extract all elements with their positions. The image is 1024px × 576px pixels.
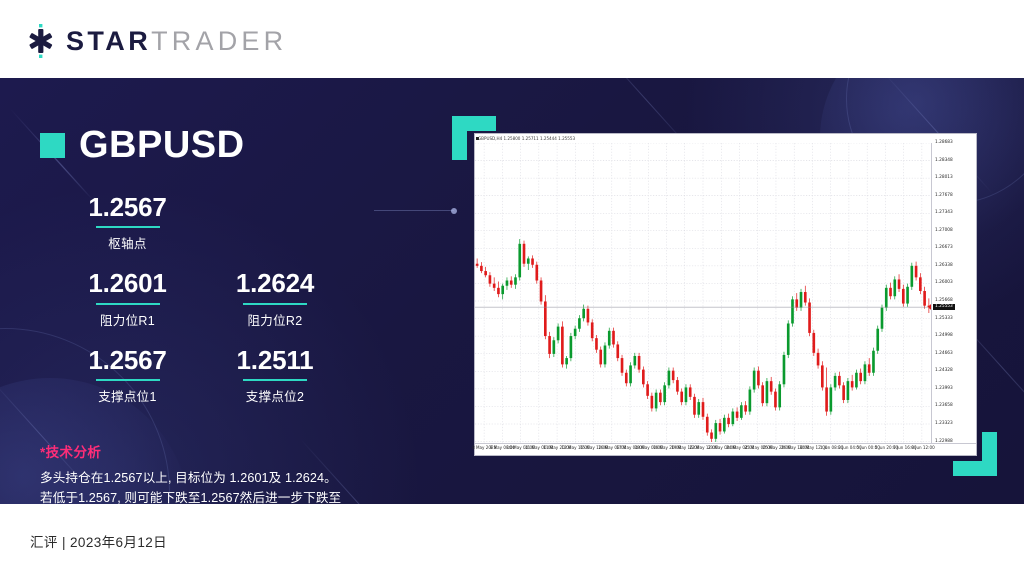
price-tick: 1.28348 <box>935 159 953 163</box>
level-s2-value: 1.2511 <box>215 347 335 374</box>
instrument-name: GBPUSD <box>79 126 245 164</box>
price-tick: 1.27678 <box>935 194 953 198</box>
level-s2: 1.2511 支撑点位2 <box>215 347 335 405</box>
level-r2-label: 阻力位R2 <box>215 310 335 329</box>
candlestick-plot[interactable] <box>475 143 932 443</box>
footer-bar: 汇评 | 2023年6月12日 <box>0 504 1024 576</box>
level-s1-underline <box>96 379 160 381</box>
hero-panel: GBPUSD 1.2567 枢轴点 1.2601 阻力位R1 1.2624 阻力… <box>0 78 1024 504</box>
price-tick: 1.25333 <box>935 317 953 321</box>
brand-name-bold: STAR <box>66 26 151 57</box>
price-tick: 1.24328 <box>935 369 953 373</box>
footer-caption: 汇评 | 2023年6月12日 <box>30 531 167 551</box>
price-chart[interactable]: GBPUSD,H4 1.25800 1.25711 1.25444 1.2555… <box>474 133 977 456</box>
price-tick: 1.28683 <box>935 141 953 145</box>
price-tick: 1.26338 <box>935 264 953 268</box>
analysis-heading: *技术分析 <box>40 441 440 461</box>
chart-main: 1.286831.283481.280131.276781.273431.270… <box>475 143 976 443</box>
price-tick: 1.27343 <box>935 211 953 215</box>
level-s2-label: 支撑点位2 <box>215 386 335 405</box>
level-r1-label: 阻力位R1 <box>40 310 215 329</box>
price-tick: 1.28013 <box>935 176 953 180</box>
level-s2-underline <box>243 379 307 381</box>
price-tick: 1.24998 <box>935 334 953 338</box>
price-tick: 1.23993 <box>935 387 953 391</box>
pivot-point-block: 1.2567 枢轴点 <box>40 194 215 252</box>
level-s1-value: 1.2567 <box>40 347 215 374</box>
levels-grid: 1.2601 阻力位R1 1.2624 阻力位R2 1.2567 支撑点位1 1… <box>40 270 440 405</box>
chart-header: GBPUSD,H4 1.25800 1.25711 1.25444 1.2555… <box>475 134 976 143</box>
price-tick: 1.27008 <box>935 229 953 233</box>
level-r2: 1.2624 阻力位R2 <box>215 270 335 328</box>
price-tick: 1.26673 <box>935 246 953 250</box>
corner-bracket-bottom-right-vertical <box>982 432 997 476</box>
level-r2-underline <box>243 303 307 305</box>
price-tick: 1.26003 <box>935 281 953 285</box>
current-price-tag: 1.25553 <box>933 304 955 310</box>
analysis-heading-text: 技术分析 <box>46 445 102 460</box>
level-s1-label: 支撑点位1 <box>40 386 215 405</box>
analysis-body: 多头持仓在1.2567以上, 目标位为 1.2601及 1.2624。 若低于1… <box>40 468 440 504</box>
price-tick: 1.23323 <box>935 422 953 426</box>
price-tick: 1.23658 <box>935 404 953 408</box>
chart-ohlc-title: GBPUSD,H4 1.25800 1.25711 1.25444 1.2555… <box>478 134 575 143</box>
corner-bracket-top-left-vertical <box>452 116 467 160</box>
star-asterisk-icon <box>26 24 56 58</box>
chart-zone: GBPUSD,H4 1.25800 1.25711 1.25444 1.2555… <box>452 116 997 476</box>
pivot-underline <box>96 226 160 228</box>
price-tick: 1.24663 <box>935 352 953 356</box>
time-tick: 8 Jun 12:00 <box>911 446 934 450</box>
analysis-line-1: 多头持仓在1.2567以上, 目标位为 1.2601及 1.2624。 <box>40 468 440 488</box>
level-r1-value: 1.2601 <box>40 270 215 297</box>
level-r2-value: 1.2624 <box>215 270 335 297</box>
title-square-marker <box>40 133 65 158</box>
time-axis[interactable]: 8 May 20239 May 08:0010 May 04:0011 May … <box>475 443 976 455</box>
level-s1: 1.2567 支撑点位1 <box>40 347 215 405</box>
brand-logo[interactable]: STAR TRADER <box>26 24 287 58</box>
technical-analysis: *技术分析 多头持仓在1.2567以上, 目标位为 1.2601及 1.2624… <box>40 441 440 504</box>
pivot-label: 枢轴点 <box>40 233 215 252</box>
level-r1-underline <box>96 303 160 305</box>
current-price-arrow-icon <box>928 304 931 310</box>
page-title: GBPUSD <box>40 126 440 164</box>
instrument-summary: GBPUSD 1.2567 枢轴点 1.2601 阻力位R1 1.2624 阻力… <box>40 126 440 504</box>
pivot-value: 1.2567 <box>40 194 215 221</box>
price-tick: 1.25668 <box>935 299 953 303</box>
level-r1: 1.2601 阻力位R1 <box>40 270 215 328</box>
analysis-line-2: 若低于1.2567, 则可能下跌至1.2567然后进一步下跌至 <box>40 488 440 504</box>
top-bar: STAR TRADER <box>0 0 1024 78</box>
brand-name-light: TRADER <box>151 26 287 57</box>
price-axis[interactable]: 1.286831.283481.280131.276781.273431.270… <box>932 143 976 443</box>
